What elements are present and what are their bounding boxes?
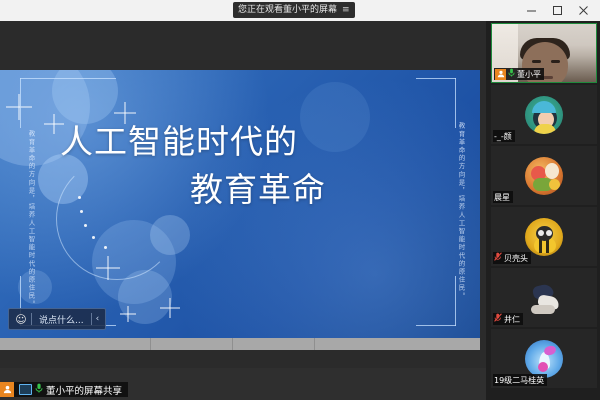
participant-tile[interactable]: 晨星: [491, 146, 597, 205]
host-icon: [495, 69, 506, 80]
sparkle-icon: [6, 94, 32, 120]
zoom-meeting-window: 您正在观看董小平的屏幕 ≡: [0, 0, 600, 400]
avatar: [525, 157, 563, 195]
screen-share-label: 董小平的屏幕共享: [46, 383, 122, 397]
participant-name-chip: 晨星: [493, 191, 513, 203]
presentation-slide[interactable]: 人工智能时代的 教育革命 教育革命的方向是，培养人工智能时代的原住民。 教育革命…: [0, 70, 480, 338]
options-menu-icon[interactable]: ≡: [342, 2, 350, 18]
window-controls: [518, 0, 596, 21]
screen-share-indicator[interactable]: 董小平的屏幕共享: [0, 382, 128, 397]
stage-top-letterbox: [0, 21, 486, 70]
bottom-status-bar: 董小平的屏幕共享: [0, 368, 486, 400]
chevron-left-icon[interactable]: ‹: [92, 314, 104, 324]
participant-name: 19级二马桂英: [494, 375, 544, 386]
stage-bottom-letterbox: [0, 350, 486, 368]
participant-tile[interactable]: 井仁: [491, 268, 597, 327]
avatar: [525, 340, 563, 378]
host-icon: [0, 382, 14, 397]
sparkle-icon: [160, 298, 180, 318]
participant-tile[interactable]: 贝壳头: [491, 207, 597, 266]
participant-name: 晨星: [494, 192, 510, 203]
shared-screen-stage[interactable]: 人工智能时代的 教育革命 教育革命的方向是，培养人工智能时代的原住民。 教育革命…: [0, 21, 486, 368]
sparkle-icon: [120, 306, 136, 322]
minimize-icon[interactable]: [518, 0, 544, 21]
watching-screen-label: 您正在观看董小平的屏幕: [238, 2, 337, 18]
participant-name-chip: 贝壳头: [493, 252, 531, 264]
close-icon[interactable]: [570, 0, 596, 21]
microphone-muted-icon: [494, 252, 502, 264]
participant-name-chip: 19级二马桂英: [493, 374, 547, 386]
participant-name: 贝壳头: [504, 253, 528, 264]
screen-share-icon: [19, 384, 32, 395]
sparkle-dot: [92, 236, 95, 239]
participant-name-chip: 井仁: [493, 313, 523, 325]
participant-tile-host[interactable]: 董小平: [491, 23, 597, 83]
sparkle-dot: [84, 224, 87, 227]
emoji-icon[interactable]: ☺: [11, 310, 31, 328]
participant-name: 井仁: [504, 314, 520, 325]
slide-taskbar-strip: [0, 338, 480, 350]
participant-rail[interactable]: 董小平 -_-颜 晨星: [486, 21, 600, 400]
slide-title-line-2: 教育革命: [60, 166, 420, 214]
participant-name: -_-颜: [494, 131, 512, 142]
avatar: [525, 96, 563, 134]
participant-tile[interactable]: 19级二马桂英: [491, 329, 597, 388]
meeting-chat-bar[interactable]: ☺ 说点什么... ‹: [8, 308, 106, 330]
avatar: [525, 218, 563, 256]
avatar: [525, 279, 563, 317]
participant-name: 董小平: [517, 69, 541, 80]
slide-title-line-1: 人工智能时代的: [60, 118, 420, 166]
microphone-on-icon: [508, 68, 515, 80]
microphone-muted-icon: [494, 313, 502, 325]
participant-tile[interactable]: -_-颜: [491, 85, 597, 144]
title-bar: 您正在观看董小平的屏幕 ≡: [0, 0, 600, 22]
maximize-icon[interactable]: [544, 0, 570, 21]
participant-name-chip: 董小平: [494, 68, 544, 80]
slide-vertical-text-right: 教育革命的方向是，培养人工智能时代的原住民。: [456, 122, 466, 300]
slide-title: 人工智能时代的 教育革命: [60, 118, 420, 214]
participant-name-chip: -_-颜: [493, 130, 515, 142]
sparkle-dot: [104, 246, 107, 249]
microphone-icon: [35, 383, 43, 396]
watching-screen-banner[interactable]: 您正在观看董小平的屏幕 ≡: [233, 2, 355, 18]
decorative-bokeh: [52, 70, 118, 124]
slide-vertical-text-left: 教育革命的方向是，培养人工智能时代的原住民。: [26, 130, 36, 308]
chat-input[interactable]: 说点什么...: [32, 313, 91, 326]
